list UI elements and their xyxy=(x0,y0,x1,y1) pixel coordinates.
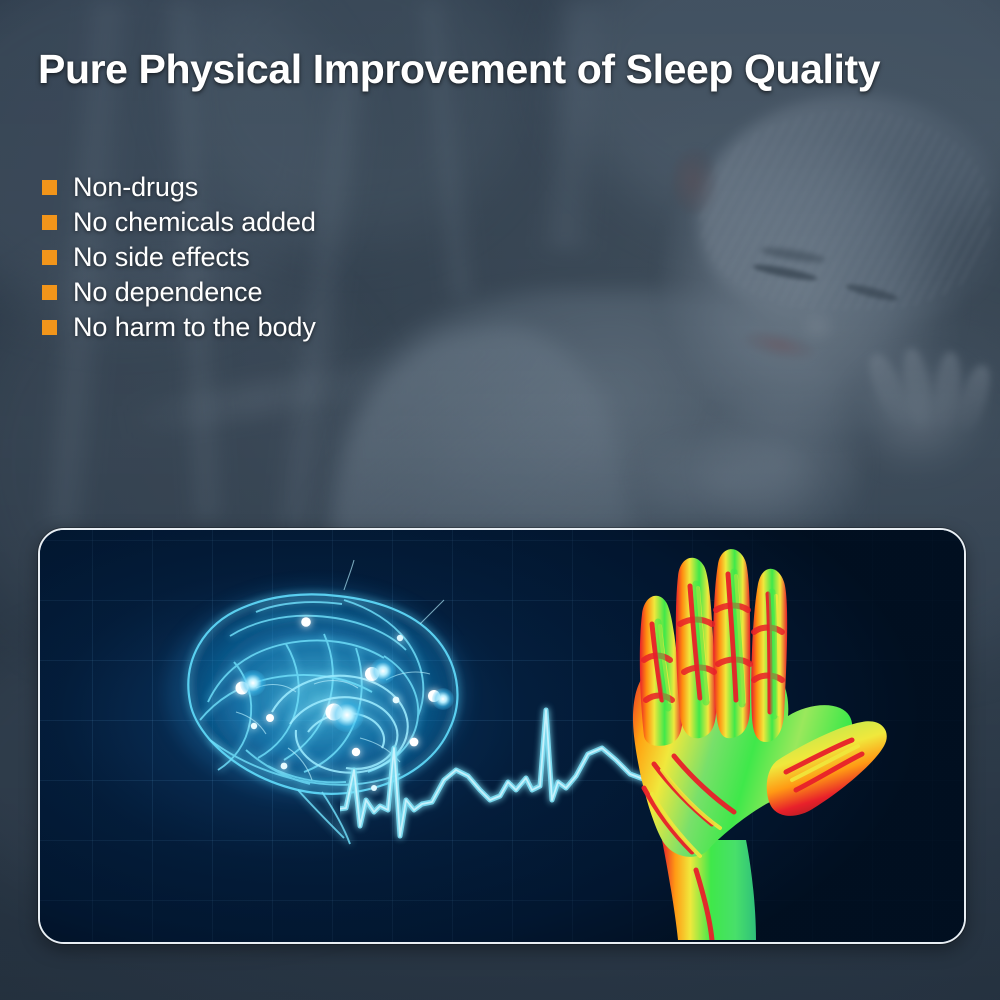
list-item: No chemicals added xyxy=(42,205,316,240)
list-item: No harm to the body xyxy=(42,310,316,345)
square-bullet-icon xyxy=(42,320,57,335)
thermal-hand-icon xyxy=(600,540,940,940)
list-item: Non-drugs xyxy=(42,170,316,205)
square-bullet-icon xyxy=(42,285,57,300)
benefits-list: Non-drugs No chemicals added No side eff… xyxy=(42,170,316,345)
square-bullet-icon xyxy=(42,215,57,230)
page-title: Pure Physical Improvement of Sleep Quali… xyxy=(38,48,968,91)
benefit-label: No chemicals added xyxy=(73,207,316,238)
list-item: No side effects xyxy=(42,240,316,275)
benefit-label: Non-drugs xyxy=(73,172,198,203)
list-item: No dependence xyxy=(42,275,316,310)
technology-panel xyxy=(38,528,966,944)
square-bullet-icon xyxy=(42,180,57,195)
benefit-label: No dependence xyxy=(73,277,262,308)
benefit-label: No side effects xyxy=(73,242,250,273)
thermal-hand-svg xyxy=(600,540,940,940)
square-bullet-icon xyxy=(42,250,57,265)
poster-canvas: Pure Physical Improvement of Sleep Quali… xyxy=(0,0,1000,1000)
benefit-label: No harm to the body xyxy=(73,312,316,343)
